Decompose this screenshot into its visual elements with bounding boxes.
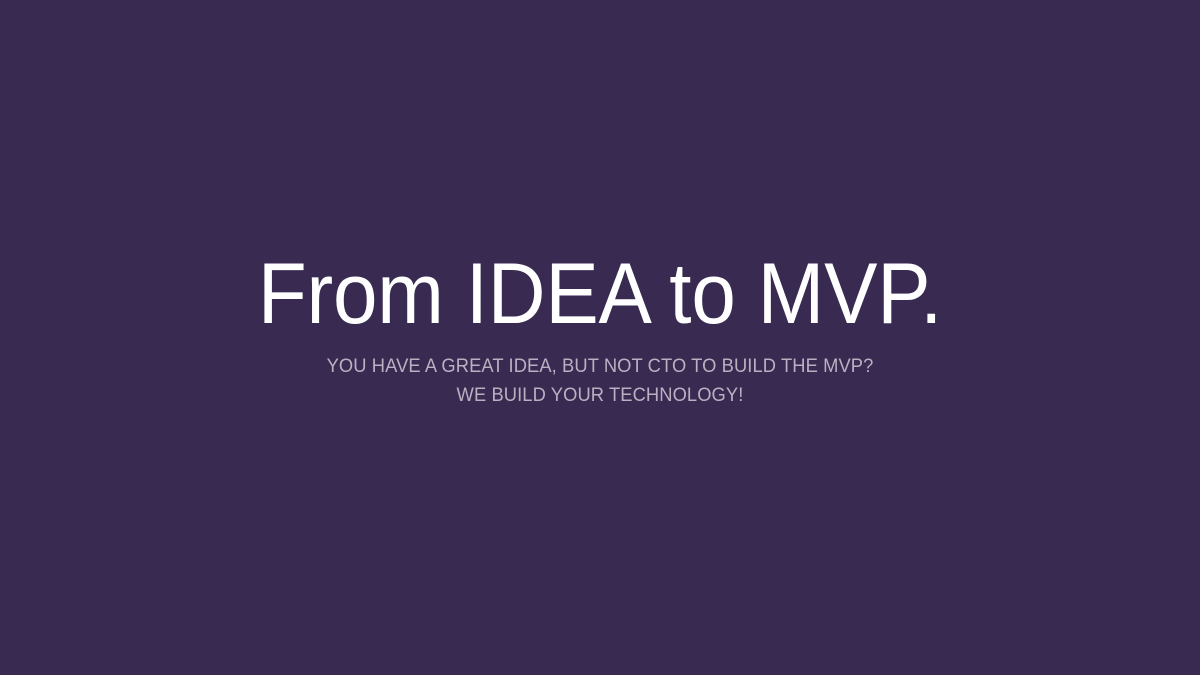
subtitle-group: YOU HAVE A GREAT IDEA, BUT NOT CTO TO BU… [0,352,1200,410]
page-title: From IDEA to MVP. [42,246,1158,342]
slide-canvas: From IDEA to MVP. YOU HAVE A GREAT IDEA,… [0,0,1200,675]
subtitle-line-2: WE BUILD YOUR TECHNOLOGY! [36,381,1164,410]
title-block: From IDEA to MVP. YOU HAVE A GREAT IDEA,… [0,0,1200,410]
subtitle-line-1: YOU HAVE A GREAT IDEA, BUT NOT CTO TO BU… [36,352,1164,381]
